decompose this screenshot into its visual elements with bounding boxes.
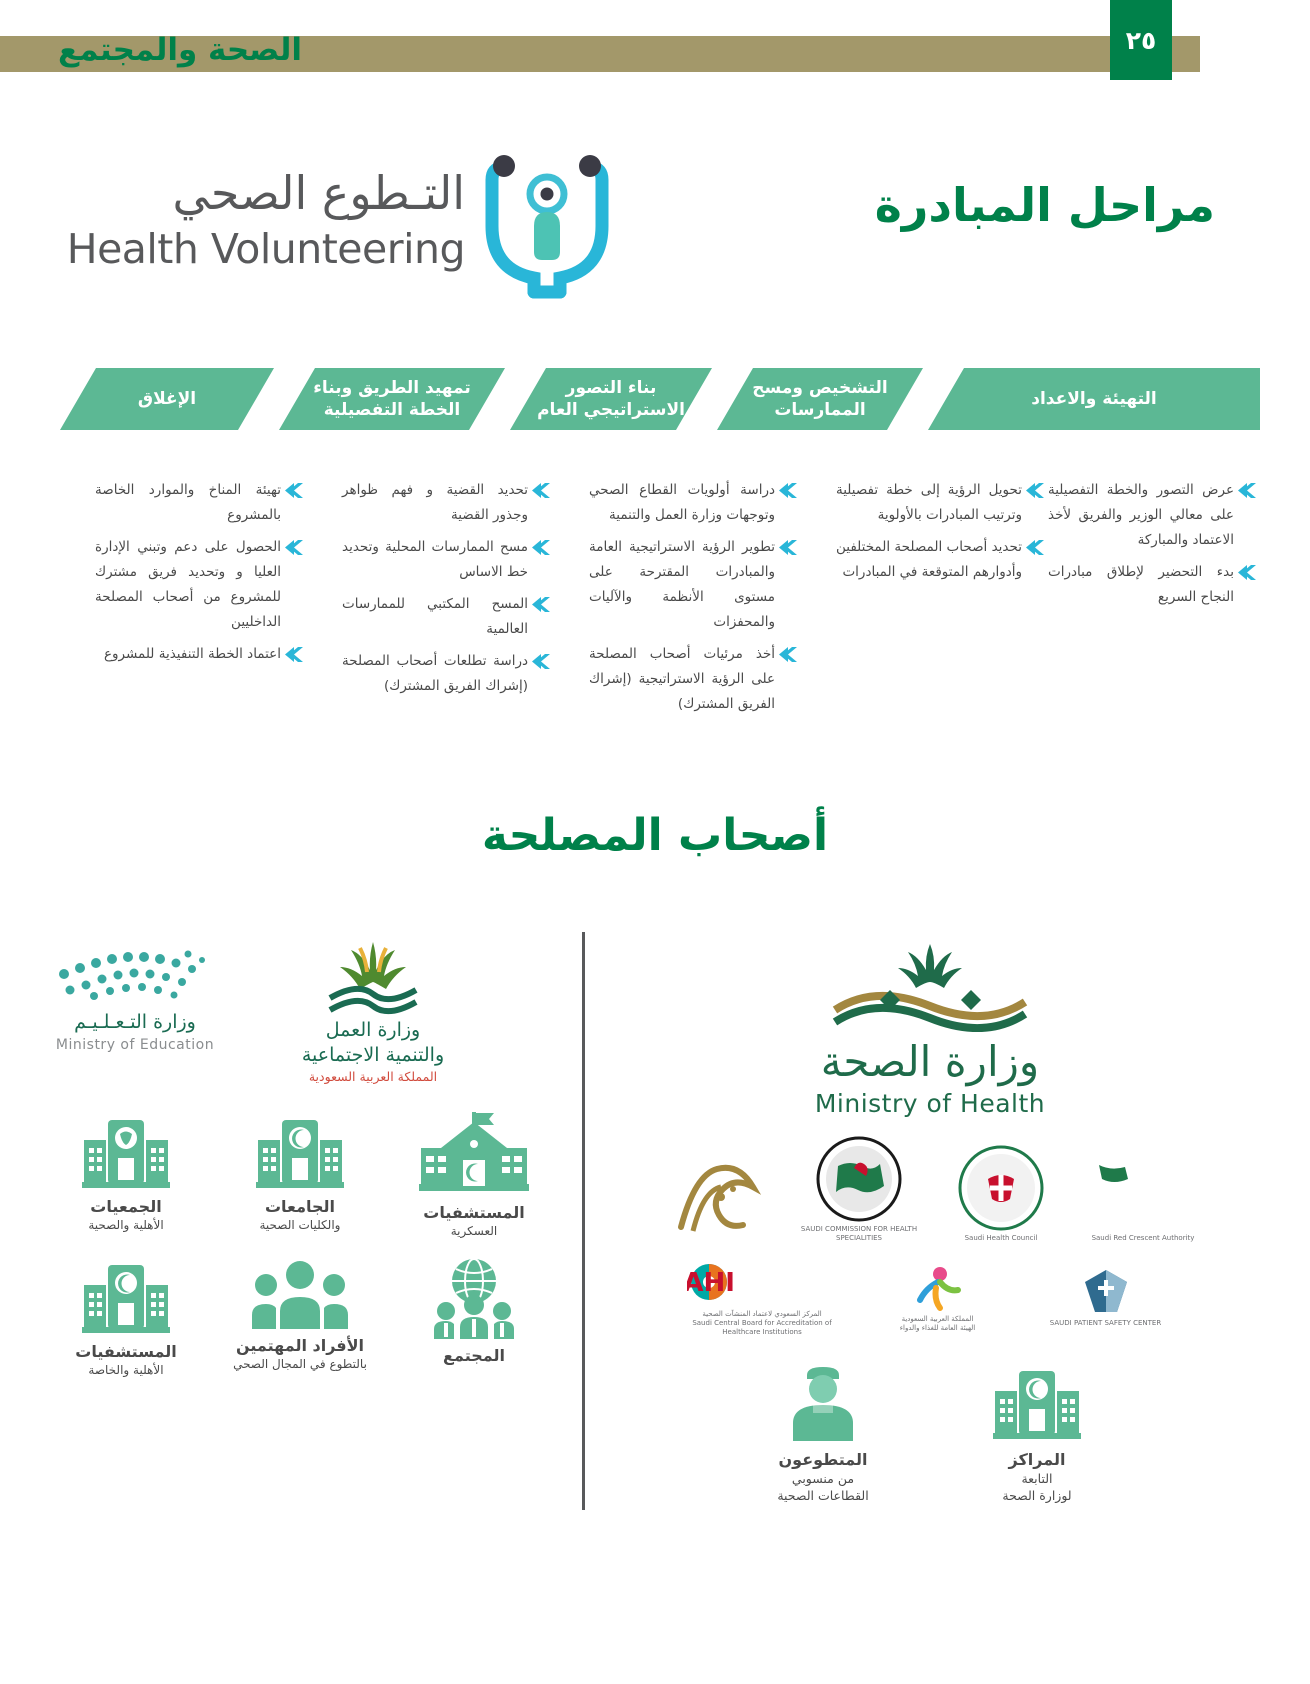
partner-caption: SAUDI COMMISSION FOR HEALTH SPECIALITIES (800, 1225, 918, 1243)
phase-detail-columns: تهيئة المناخ والموارد الخاصة بالمشروعالح… (60, 478, 1260, 778)
caption-primary: المستشفيات (52, 1341, 200, 1362)
moh-icon-0: المتطوعونمن منسوبيالقطاعات الصحية (743, 1363, 903, 1504)
stakeholder-caption: المستشفياتالعسكرية (400, 1202, 548, 1239)
bullet-text: اعتماد الخطة التنفيذية للمشروع (95, 642, 281, 667)
palm-swords-color-icon (318, 940, 428, 1018)
private-hospital-icon (52, 1257, 200, 1337)
people-group-icon (226, 1257, 374, 1331)
brand-text: التـطوع الصحي Health Volunteering (60, 162, 465, 274)
partner2-logo-2: SAUDI PATIENT SAFETY CENTER (1031, 1266, 1181, 1328)
bullet-text: الحصول على دعم وتبني الإدارة العليا و وت… (95, 535, 281, 635)
education-dots-icon (50, 940, 220, 1010)
ministry-labor: وزارة العملوالتنمية الاجتماعية المملكة ا… (278, 940, 468, 1086)
hospital-building-icon (957, 1363, 1117, 1443)
bullet-item: دراسة أولويات القطاع الصحي وتوجهات وزارة… (589, 478, 801, 528)
partner-logo-3: Saudi Red Crescent Authority (1084, 1145, 1202, 1243)
phase-column-1: تحديد القضية و فهم ظواهر وجذور القضيةمسح… (342, 478, 554, 778)
partner2-caption: المركز السعودي لاعتماد المنشآت الصحيةSau… (680, 1310, 845, 1337)
ministry-row: وزارة التـعـلـيـم Ministry of Education … (40, 940, 560, 1086)
moh-arabic: وزارة الصحة (620, 1036, 1240, 1088)
page-number-badge: ٢٥ (1110, 0, 1172, 80)
caption-primary: المجتمع (400, 1345, 548, 1366)
partner2-logo-1: المملكة العربية السعوديةالهيئة العامة لل… (863, 1262, 1013, 1333)
chevron-bullet-icon (775, 535, 801, 555)
shc-seal-icon (942, 1145, 1060, 1231)
partner-logo-1: SAUDI COMMISSION FOR HEALTH SPECIALITIES (800, 1136, 918, 1243)
phase-label-3: تمهيد الطريق وبناءالخطة التفصيلية (313, 377, 471, 421)
community-globe-icon (400, 1257, 548, 1341)
chevron-bullet-icon (1234, 560, 1260, 580)
brand-english: Health Volunteering (60, 224, 465, 274)
bullet-text: دراسة تطلعات أصحاب المصلحة (إشراك الفريق… (342, 649, 528, 699)
chevron-bullet-icon (528, 478, 554, 498)
phase-column-2: دراسة أولويات القطاع الصحي وتوجهات وزارة… (589, 478, 801, 778)
phase-column-4: عرض التصور والخطة التفصيلية على معالي ال… (1048, 478, 1260, 778)
caption-secondary: التابعةلوزارة الصحة (957, 1470, 1117, 1504)
partner-caption: Saudi Health Council (942, 1234, 1060, 1243)
phase-chevron-3[interactable]: تمهيد الطريق وبناءالخطة التفصيلية (279, 368, 505, 430)
stethoscope-person-icon (480, 150, 620, 300)
moh-icon-caption: المراكزالتابعةلوزارة الصحة (957, 1449, 1117, 1504)
caption-primary: الأفراد المهتمين (226, 1335, 374, 1356)
bullet-text: عرض التصور والخطة التفصيلية على معالي ال… (1048, 478, 1234, 553)
red-crescent-icon (1084, 1145, 1202, 1231)
chevron-bullet-icon (528, 535, 554, 555)
moh-icon-row: المتطوعونمن منسوبيالقطاعات الصحيةالمراكز… (620, 1363, 1240, 1504)
caption-primary: الجمعيات (52, 1196, 200, 1217)
moh-icon-caption: المتطوعونمن منسوبيالقطاعات الصحية (743, 1449, 903, 1504)
phase-label-0: التهيئة والاعداد (1031, 388, 1157, 410)
page-number: ٢٥ (1126, 26, 1157, 55)
caption-secondary: الأهلية والصحية (52, 1217, 200, 1233)
chevron-bullet-icon (281, 478, 307, 498)
chevron-bullet-icon (281, 535, 307, 555)
bullet-text: تهيئة المناخ والموارد الخاصة بالمشروع (95, 478, 281, 528)
bullet-item: عرض التصور والخطة التفصيلية على معالي ال… (1048, 478, 1260, 553)
left-icon-grid: الجمعياتالأهلية والصحيةالجامعاتوالكليات … (40, 1112, 560, 1378)
stakeholder-icon-3: المستشفياتالأهلية والخاصة (52, 1257, 200, 1378)
caption-secondary: من منسوبيالقطاعات الصحية (743, 1470, 903, 1504)
stakeholders-title: أصحاب المصلحة (0, 810, 1310, 861)
patient-safety-icon (1031, 1266, 1181, 1316)
bullet-item: تطوير الرؤية الاستراتيجية العامة والمباد… (589, 535, 801, 635)
ministry-education: وزارة التـعـلـيـم Ministry of Education (40, 940, 230, 1086)
bullet-item: دراسة تطلعات أصحاب المصلحة (إشراك الفريق… (342, 649, 554, 699)
phase-banner-row: التهيئة والاعداد التشخيص ومسحالممارسات ب… (60, 368, 1260, 436)
bullet-item: مسح الممارسات المحلية وتحديد خط الاساس (342, 535, 554, 585)
chevron-bullet-icon (775, 478, 801, 498)
association-building-icon (52, 1112, 200, 1192)
moh-english: Ministry of Health (620, 1088, 1240, 1120)
stakeholder-caption: الجامعاتوالكليات الصحية (226, 1196, 374, 1233)
moh-logo: وزارة الصحة Ministry of Health (620, 940, 1240, 1120)
partner-logo-row: SAUDI COMMISSION FOR HEALTH SPECIALITIES… (620, 1136, 1240, 1243)
bullet-text: تحويل الرؤية إلى خطة تفصيلية وترتيب المب… (836, 478, 1022, 528)
caption-secondary: والكليات الصحية (226, 1217, 374, 1233)
military-hospital-icon (400, 1112, 548, 1198)
caption-primary: المتطوعون (743, 1449, 903, 1470)
bullet-text: بدء التحضير لإطلاق مبادرات النجاح السريع (1048, 560, 1234, 610)
chevron-bullet-icon (1022, 535, 1048, 555)
phase-chevron-1[interactable]: التشخيص ومسحالممارسات (717, 368, 923, 430)
page-title: مراحل المبادرة (775, 178, 1215, 232)
chevron-bullet-icon (281, 642, 307, 662)
caption-secondary: بالتطوع في المجال الصحي (226, 1356, 374, 1372)
ministry-labor-sub: المملكة العربية السعودية (278, 1068, 468, 1086)
stakeholder-caption: الأفراد المهتمينبالتطوع في المجال الصحي (226, 1335, 374, 1372)
chevron-bullet-icon (1022, 478, 1048, 498)
stakeholder-icon-5: المجتمع (400, 1257, 548, 1378)
stakeholder-caption: المستشفياتالأهلية والخاصة (52, 1341, 200, 1378)
phase-label-2: بناء التصورالاستراتيجي العام (537, 377, 685, 421)
partner-logo-row-2: CBAHIالمركز السعودي لاعتماد المنشآت الصح… (620, 1257, 1240, 1337)
page-header: الصحة والمجتمع ٢٥ (0, 0, 1310, 100)
ministry-labor-arabic: وزارة العملوالتنمية الاجتماعية (278, 1018, 468, 1068)
bullet-item: أخذ مرئيات أصحاب المصلحة على الرؤية الاس… (589, 642, 801, 717)
bullet-text: مسح الممارسات المحلية وتحديد خط الاساس (342, 535, 528, 585)
chevron-bullet-icon (1234, 478, 1260, 498)
ministry-education-arabic: وزارة التـعـلـيـم (40, 1010, 230, 1035)
scfhs-seal-icon (800, 1136, 918, 1222)
section-title: الصحة والمجتمع (58, 28, 302, 72)
calligraphy-emblem-icon (658, 1157, 776, 1243)
stakeholder-icon-4: الأفراد المهتمينبالتطوع في المجال الصحي (226, 1257, 374, 1378)
stakeholder-caption: المجتمع (400, 1345, 548, 1366)
caption-secondary: العسكرية (400, 1223, 548, 1239)
vertical-divider (582, 932, 585, 1510)
bullet-text: تحديد القضية و فهم ظواهر وجذور القضية (342, 478, 528, 528)
moh-icon-1: المراكزالتابعةلوزارة الصحة (957, 1363, 1117, 1504)
phase-column-0: تهيئة المناخ والموارد الخاصة بالمشروعالح… (95, 478, 307, 778)
cbahi-icon: CBAHI (680, 1257, 845, 1307)
partner2-caption: SAUDI PATIENT SAFETY CENTER (1031, 1319, 1181, 1328)
bullet-item: تهيئة المناخ والموارد الخاصة بالمشروع (95, 478, 307, 528)
caption-primary: الجامعات (226, 1196, 374, 1217)
bullet-item: الحصول على دعم وتبني الإدارة العليا و وت… (95, 535, 307, 635)
partner-logo-2: Saudi Health Council (942, 1145, 1060, 1243)
phase-chevron-2[interactable]: بناء التصورالاستراتيجي العام (510, 368, 712, 430)
caption-primary: المراكز (957, 1449, 1117, 1470)
bullet-item: تحديد القضية و فهم ظواهر وجذور القضية (342, 478, 554, 528)
ministry-education-english: Ministry of Education (40, 1035, 230, 1055)
chevron-bullet-icon (775, 642, 801, 662)
stakeholder-caption: الجمعياتالأهلية والصحية (52, 1196, 200, 1233)
phase-column-3: تحويل الرؤية إلى خطة تفصيلية وترتيب المب… (836, 478, 1048, 778)
partner2-caption: المملكة العربية السعوديةالهيئة العامة لل… (863, 1315, 1013, 1333)
bullet-item: تحديد أصحاب المصلحة المختلفين وأدوارهم ا… (836, 535, 1048, 585)
bullet-text: دراسة أولويات القطاع الصحي وتوجهات وزارة… (589, 478, 775, 528)
partner-caption: Saudi Red Crescent Authority (1084, 1234, 1202, 1243)
caption-secondary: الأهلية والخاصة (52, 1362, 200, 1378)
phase-label-4: الإغلاق (138, 388, 196, 410)
bullet-text: أخذ مرئيات أصحاب المصلحة على الرؤية الاس… (589, 642, 775, 717)
bullet-item: اعتماد الخطة التنفيذية للمشروع (95, 642, 307, 667)
svg-text:CBAHI: CBAHI (687, 1268, 735, 1298)
stakeholder-icon-1: الجامعاتوالكليات الصحية (226, 1112, 374, 1239)
caption-primary: المستشفيات (400, 1202, 548, 1223)
phase-label-1: التشخيص ومسحالممارسات (752, 377, 887, 421)
bullet-text: المسح المكتبي للممارسات العالمية (342, 592, 528, 642)
bullet-item: المسح المكتبي للممارسات العالمية (342, 592, 554, 642)
sfda-icon (863, 1262, 1013, 1312)
university-building-icon (226, 1112, 374, 1192)
volunteer-person-icon (743, 1363, 903, 1443)
page-root: الصحة والمجتمع ٢٥ التـطوع الصحي Health V… (0, 0, 1310, 1684)
bullet-item: تحويل الرؤية إلى خطة تفصيلية وترتيب المب… (836, 478, 1048, 528)
chevron-bullet-icon (528, 592, 554, 612)
chevron-bullet-icon (528, 649, 554, 669)
phase-chevron-4[interactable]: الإغلاق (60, 368, 274, 430)
bullet-text: تحديد أصحاب المصلحة المختلفين وأدوارهم ا… (836, 535, 1022, 585)
phase-chevron-0[interactable]: التهيئة والاعداد (928, 368, 1260, 430)
partner-logo-0 (658, 1157, 776, 1243)
partner2-logo-0: CBAHIالمركز السعودي لاعتماد المنشآت الصح… (680, 1257, 845, 1337)
moh-block: وزارة الصحة Ministry of Health SAUDI COM… (620, 940, 1240, 1504)
palm-swords-ribbon-icon (825, 940, 1035, 1032)
brand-arabic: التـطوع الصحي (60, 162, 465, 224)
bullet-item: بدء التحضير لإطلاق مبادرات النجاح السريع (1048, 560, 1260, 610)
stakeholder-icon-2: المستشفياتالعسكرية (400, 1112, 548, 1239)
brand-logo: التـطوع الصحي Health Volunteering (60, 150, 620, 300)
stakeholder-icon-0: الجمعياتالأهلية والصحية (52, 1112, 200, 1239)
other-stakeholders-block: وزارة التـعـلـيـم Ministry of Education … (40, 940, 560, 1378)
bullet-text: تطوير الرؤية الاستراتيجية العامة والمباد… (589, 535, 775, 635)
